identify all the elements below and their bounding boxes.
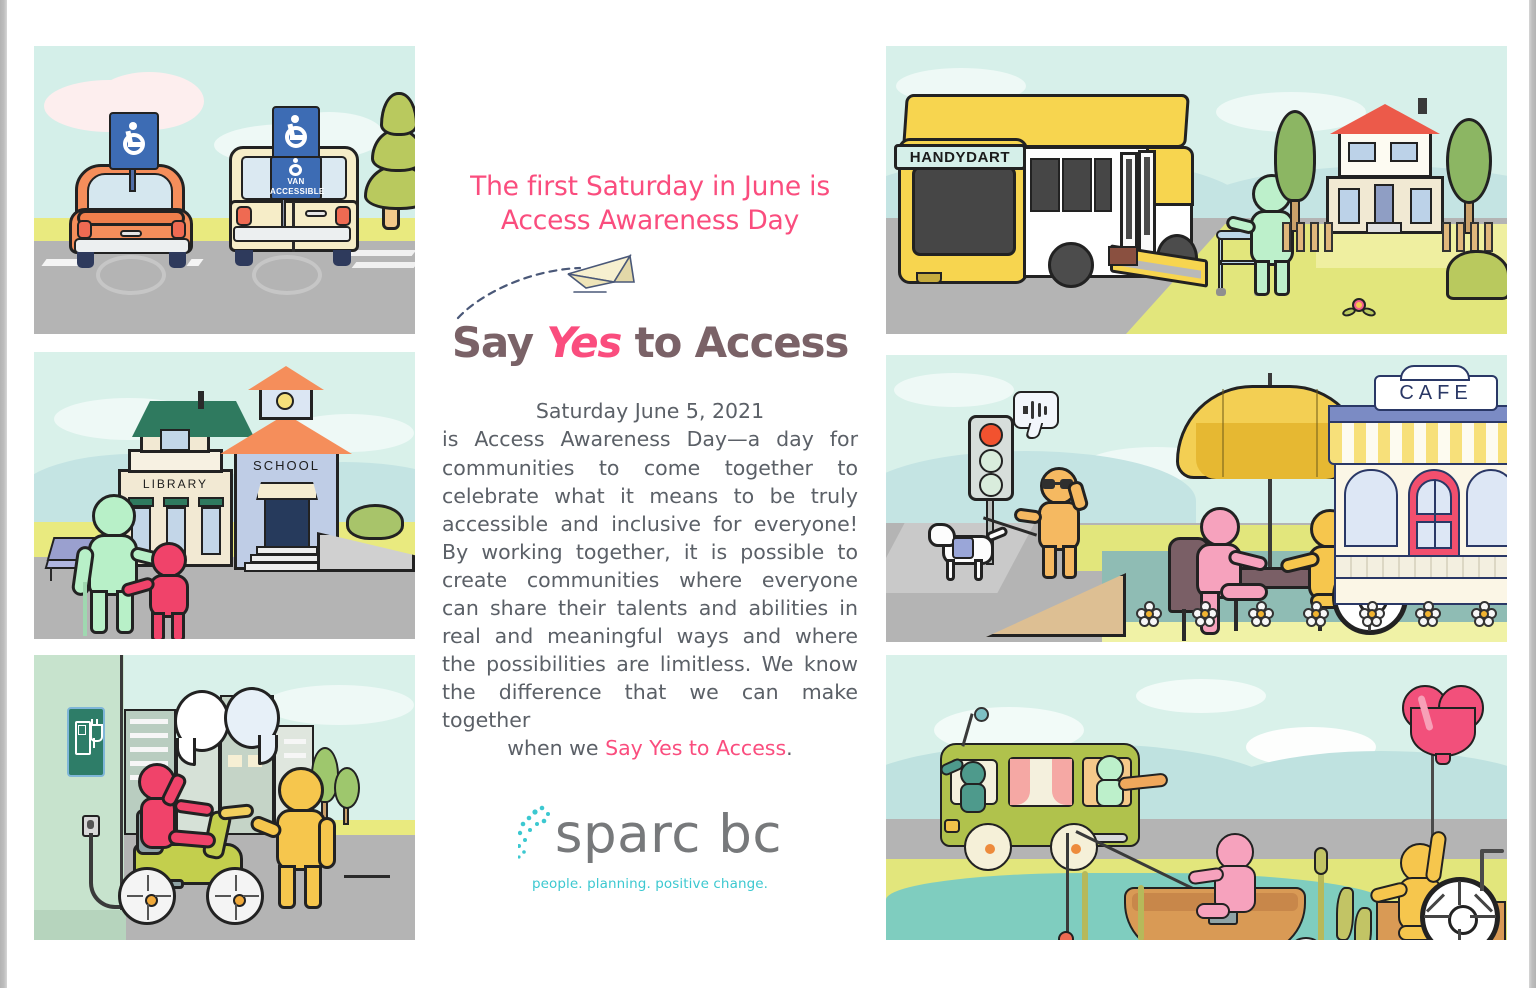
daisy-icon <box>1303 601 1329 627</box>
audio-signal-bubble <box>1013 391 1059 447</box>
handydart-sign: HANDYDART <box>894 144 1026 170</box>
sparc-bc-logo[interactable]: sparc bc people. planning. positive chan… <box>440 804 860 892</box>
bush <box>1446 250 1507 300</box>
stone-base <box>1334 555 1507 579</box>
wheelchair <box>1414 851 1507 940</box>
body-tail-suffix: . <box>786 736 793 760</box>
page-left-edge-strip <box>0 0 7 988</box>
accessible-parking-sign <box>272 106 320 162</box>
body-paragraph: is Access Awareness Day—a day for commun… <box>440 425 860 762</box>
plug-icon <box>90 724 103 742</box>
curtain <box>1052 759 1072 805</box>
tree <box>1274 110 1316 232</box>
reed <box>1138 885 1144 940</box>
panel-scooter-charging <box>34 655 415 940</box>
say-yes-to-access-wordmark: Say Yes to Access <box>440 322 860 364</box>
reed-leaf <box>1354 907 1372 940</box>
ground-line <box>344 875 390 878</box>
wheelchair-handle <box>1480 851 1484 891</box>
speech-bubble <box>224 687 280 769</box>
guide-dog <box>928 523 1008 583</box>
panel-library-school: LIBRARY SCHOOL <box>34 352 415 639</box>
reed-head <box>1314 847 1328 875</box>
body-tail-prefix: when we <box>507 736 605 760</box>
daisy-icon <box>1136 601 1162 627</box>
ramp-base <box>1108 246 1138 266</box>
sparc-bc-tagline: people. planning. positive change. <box>440 876 860 892</box>
child-figure <box>139 542 201 638</box>
panel-recreation <box>886 655 1507 940</box>
van-accessible-sign: VAN ACCESSIBLE <box>270 156 322 204</box>
center-content-column: The first Saturday in June is Access Awa… <box>440 170 860 892</box>
curtain <box>1010 759 1030 805</box>
van-wheel <box>964 823 1012 871</box>
ev-charging-sign <box>67 707 105 777</box>
handydart-label: HANDYDART <box>910 149 1010 166</box>
van-passenger <box>1086 751 1178 807</box>
picket-fence <box>1442 222 1500 252</box>
standing-person <box>256 767 348 909</box>
sound-wave-icon <box>1023 401 1049 419</box>
cloud <box>894 373 1014 407</box>
body-main-text: is Access Awareness Day—a day for commun… <box>442 427 858 732</box>
van-passenger <box>948 755 998 813</box>
flower <box>1342 296 1374 320</box>
heart-balloon-icon <box>1402 677 1484 761</box>
panel-accessible-parking: VAN ACCESSIBLE <box>34 46 415 334</box>
page-right-edge-strip <box>1529 0 1536 988</box>
scooter-wheel <box>118 867 176 925</box>
signal-red-light <box>979 423 1003 447</box>
cafe-door <box>1408 469 1460 565</box>
fishing-bobber <box>1058 931 1074 940</box>
scooter-rider <box>130 763 222 863</box>
accessible-parking-sign <box>109 112 159 172</box>
daisy-row <box>1136 601 1497 631</box>
fish <box>1290 937 1332 940</box>
reed-leaf <box>1336 887 1354 940</box>
daisy-icon <box>1248 601 1274 627</box>
panel-handydart: HANDYDART <box>886 46 1507 334</box>
fishing-line <box>1066 833 1069 940</box>
wordmark-emphasis: Yes <box>546 318 621 367</box>
daisy-icon <box>1471 601 1497 627</box>
daisy-icon <box>1359 601 1385 627</box>
signal-green-light <box>979 473 1003 497</box>
speech-bubble <box>174 690 230 770</box>
cafe-label: CAFE <box>1399 382 1472 405</box>
bus-wheel <box>1048 242 1094 288</box>
wordmark-part2: to Access <box>621 318 848 367</box>
tree <box>364 86 415 226</box>
panel-cafe: CAFE <box>886 355 1507 642</box>
school-label: SCHOOL <box>234 458 339 473</box>
bus-windshield <box>912 166 1016 256</box>
library-label: LIBRARY <box>118 477 233 491</box>
sparc-bc-wordmark: sparc bc <box>555 810 782 860</box>
cloud <box>1136 679 1266 713</box>
wheelchair-glyph <box>120 122 148 160</box>
body-tail-highlight: Say Yes to Access <box>605 736 786 760</box>
angler <box>1204 833 1284 925</box>
daisy-icon <box>1192 601 1218 627</box>
picket-fence <box>1282 222 1336 252</box>
event-date: Saturday June 5, 2021 <box>440 398 860 426</box>
wordmark-part1: Say <box>452 318 547 367</box>
paper-plane-icon <box>440 252 860 322</box>
bush <box>346 504 404 540</box>
signal-amber-light <box>979 449 1003 473</box>
cafe-awning-stripes <box>1328 421 1507 465</box>
cane <box>83 582 87 636</box>
kicker-heading: The first Saturday in June is Access Awa… <box>440 170 860 238</box>
daisy-icon <box>1415 601 1441 627</box>
stall-line <box>352 262 415 268</box>
van-accessible-label: VAN ACCESSIBLE <box>270 177 322 197</box>
person-with-guide-dog <box>1030 467 1092 579</box>
reed <box>1082 871 1088 940</box>
paper-plane-graphic <box>440 252 860 322</box>
tree <box>1446 118 1492 234</box>
cafe-building: CAFE <box>1334 369 1507 605</box>
house <box>1326 102 1444 234</box>
wall-shadow <box>34 910 126 940</box>
van-wheel <box>1050 823 1098 871</box>
sparc-logo-dots-icon <box>518 804 552 860</box>
wheelchair-glyph <box>282 115 310 153</box>
dog-vest <box>952 537 974 559</box>
